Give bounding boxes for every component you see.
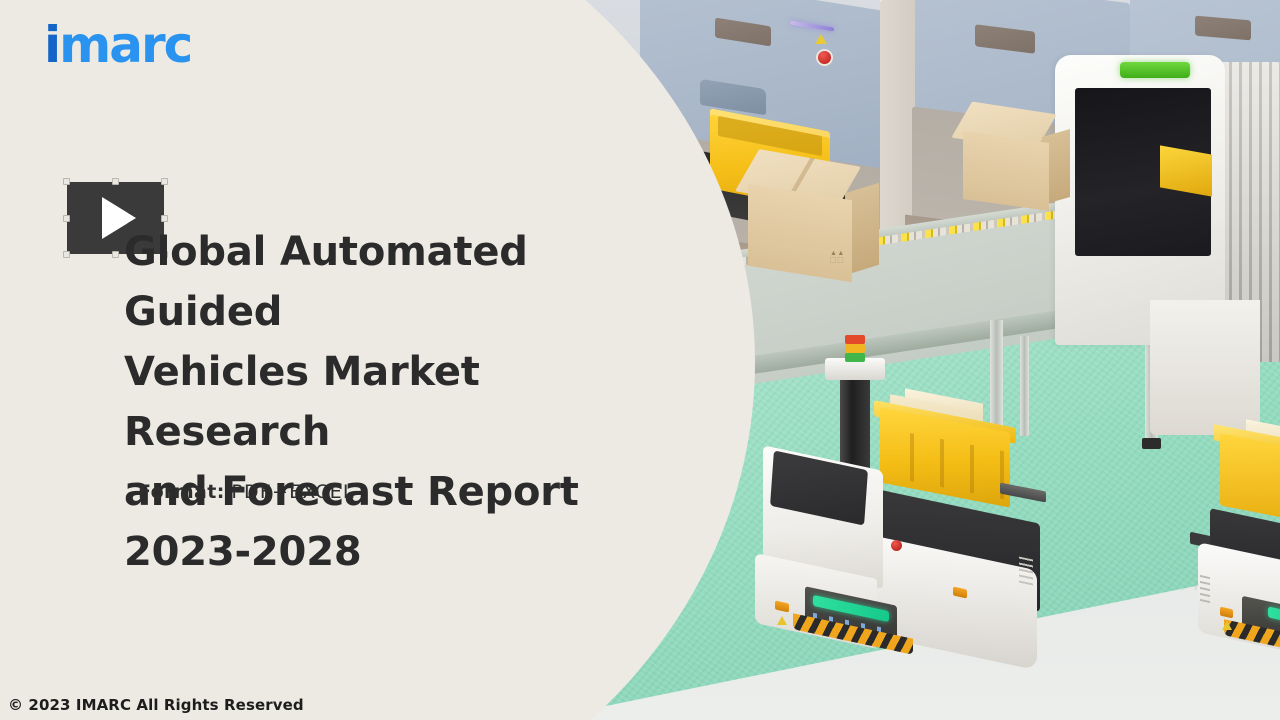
box-front-face	[963, 131, 1049, 211]
format-value: PDF+EXCEL	[231, 481, 354, 503]
title-line-2: Vehicles Market Research	[124, 342, 684, 462]
warning-triangle-icon	[815, 34, 827, 44]
signal-light-green	[845, 353, 865, 362]
resize-handle-top-middle[interactable]	[112, 178, 119, 185]
scanner-inner-roller	[1160, 145, 1212, 196]
resize-handle-bottom-left[interactable]	[63, 251, 70, 258]
page-title: Global Automated Guided Vehicles Market …	[124, 222, 684, 582]
box-front-face	[748, 184, 852, 282]
scanner-status-indicator	[1120, 62, 1190, 78]
conveyor-foot	[1142, 438, 1161, 449]
box-handling-symbols: ▲▲⬚⬚	[830, 250, 845, 265]
automated-guided-vehicle-2	[1190, 480, 1280, 720]
logo-wordmark: imarc	[44, 14, 214, 76]
resize-handle-bottom-middle[interactable]	[112, 251, 119, 258]
agv1-warning-triangle-icon	[777, 616, 787, 625]
title-line-4: 2023-2028	[124, 522, 684, 582]
imarc-logo[interactable]: imarc	[44, 14, 214, 76]
signal-light-yellow	[845, 344, 865, 353]
resize-handle-right-middle[interactable]	[161, 215, 168, 222]
agv2-vents	[1200, 575, 1210, 605]
format-line: Format: PDF+EXCEL	[138, 481, 355, 503]
conveyor-leg	[1020, 336, 1029, 436]
agv2-warning-triangle-icon	[1222, 621, 1232, 630]
copyright-notice: © 2023 IMARC All Rights Reserved	[8, 696, 304, 714]
agv1-stop-button	[891, 540, 902, 551]
conveyor-leg	[990, 320, 1003, 440]
title-line-1: Global Automated Guided	[124, 222, 684, 342]
logo-letter-i: i	[44, 16, 59, 74]
resize-handle-top-right[interactable]	[161, 178, 168, 185]
resize-handle-top-left[interactable]	[63, 178, 70, 185]
report-cover-slide: ▲▲⬚⬚	[0, 0, 1280, 720]
emergency-stop-button	[818, 51, 831, 64]
signal-light-red	[845, 335, 865, 344]
agv1-vents	[1019, 557, 1033, 590]
format-label: Format:	[138, 481, 225, 503]
scanner-lower-housing	[1150, 300, 1260, 435]
logo-letters-marc: marc	[59, 16, 191, 74]
resize-handle-left-middle[interactable]	[63, 215, 70, 222]
automated-guided-vehicle-1	[755, 440, 1045, 670]
